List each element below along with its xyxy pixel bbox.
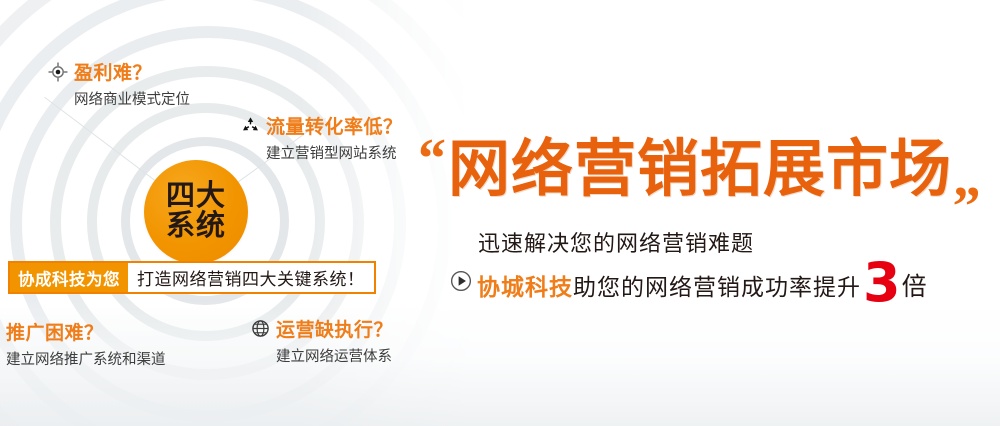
multiplier-value: 3 xyxy=(863,264,901,302)
multiplier-unit: 倍 xyxy=(902,267,927,303)
tagline-strip: 协成科技为您 打造网络营销四大关键系统！ xyxy=(8,261,376,294)
problem-item-conversion-subtitle: 建立营销型网站系统 xyxy=(266,142,403,163)
subheadline-line-1: 迅速解决您的网络营销难题 xyxy=(478,226,754,258)
tagline-message: 打造网络营销四大关键系统！ xyxy=(128,263,374,292)
brand-name: 协城科技 xyxy=(477,268,573,302)
headline-text: 网络营销拓展市场 xyxy=(448,138,952,200)
quote-close-mark: „ xyxy=(953,150,981,206)
subheadline-line-2: 协城科技 助您的网络营销成功率提升 3 倍 xyxy=(450,258,927,303)
recycle-icon xyxy=(240,116,260,136)
problem-item-operation-head: 运营缺执行？ xyxy=(250,315,393,342)
problem-item-promotion-head: 推广困难？ xyxy=(6,318,166,345)
problem-item-operation-title: 运营缺执行？ xyxy=(276,315,393,342)
bubble-line-2: 系统 xyxy=(166,212,226,242)
problem-item-profit-subtitle: 网络商业模式定位 xyxy=(74,88,190,109)
problem-item-profit-title: 盈利难？ xyxy=(74,58,152,85)
four-systems-bubble: 四大 系统 xyxy=(144,160,248,264)
headline-row: “ 网络营销拓展市场 „ xyxy=(418,138,981,200)
problem-item-conversion-title: 流量转化率低？ xyxy=(266,112,403,139)
problem-item-conversion-head: 流量转化率低？ xyxy=(240,112,403,139)
quote-open-mark: “ xyxy=(418,138,446,182)
problem-item-operation: 运营缺执行？ 建立网络运营体系 xyxy=(250,315,393,366)
subheadline-line-2-text: 助您的网络营销成功率提升 xyxy=(573,268,861,302)
problem-item-promotion-title: 推广困难？ xyxy=(6,318,104,345)
problem-item-profit: 盈利难？ 网络商业模式定位 xyxy=(48,58,190,109)
bubble-line-1: 四大 xyxy=(166,182,226,212)
headline-block: “ 网络营销拓展市场 „ xyxy=(418,138,981,200)
problem-item-profit-head: 盈利难？ xyxy=(48,58,190,85)
problem-item-conversion: 流量转化率低？ 建立营销型网站系统 xyxy=(240,112,403,163)
marketing-banner: 盈利难？ 网络商业模式定位 流量转化率低？ 建立营销型网站系统 四大 系统 协成… xyxy=(0,0,1000,426)
problem-item-promotion: 推广困难？ 建立网络推广系统和渠道 xyxy=(6,318,166,369)
globe-icon xyxy=(250,319,270,339)
tagline-highlight: 协成科技为您 xyxy=(10,263,128,292)
play-circle-icon xyxy=(450,270,472,292)
problem-item-operation-subtitle: 建立网络运营体系 xyxy=(276,345,393,366)
problem-item-promotion-subtitle: 建立网络推广系统和渠道 xyxy=(6,348,166,369)
crosshair-target-icon xyxy=(48,62,68,82)
